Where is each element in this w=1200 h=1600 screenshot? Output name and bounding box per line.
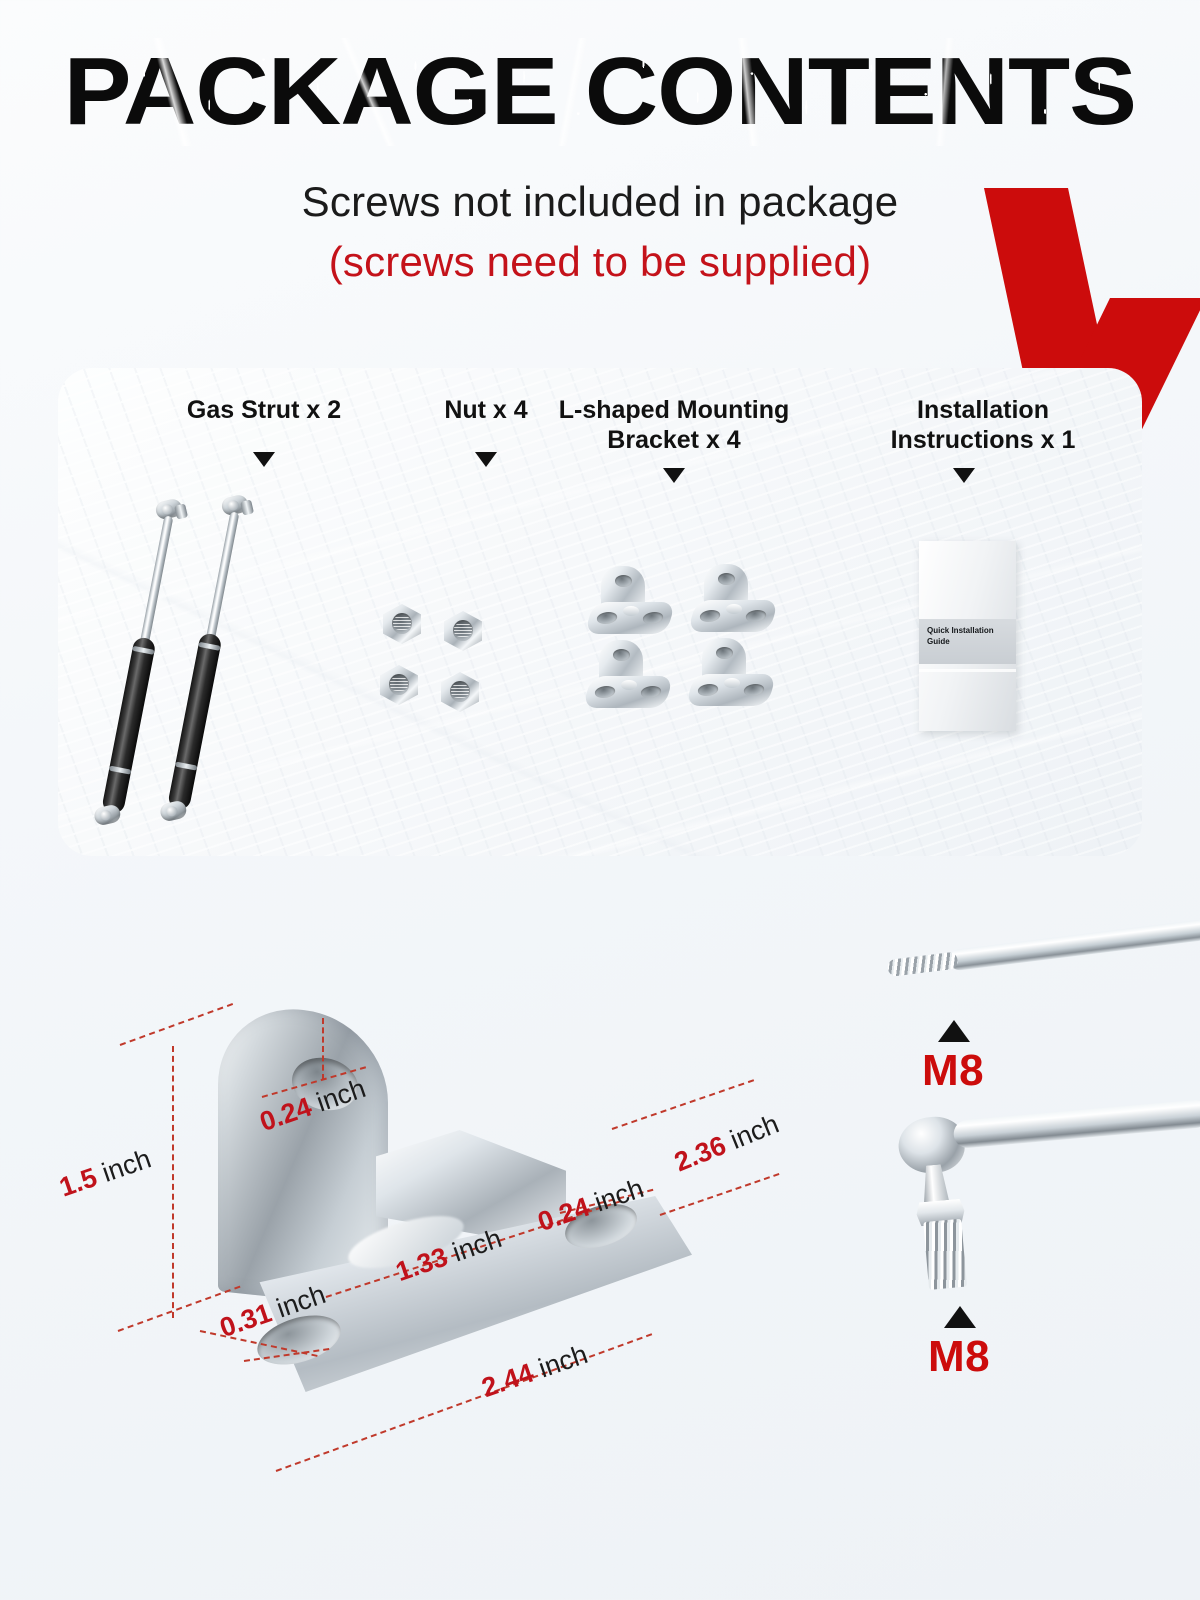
- rod-shaft: [948, 919, 1200, 972]
- hex-nut-1: [383, 604, 421, 644]
- item-label-instructions-line2: Instructions x 1: [848, 426, 1118, 456]
- thread-callout-bottom: M8: [928, 1332, 990, 1382]
- mounting-bracket-3: [587, 640, 669, 714]
- item-label-instructions-line1: Installation: [848, 396, 1118, 426]
- bracket-rib: [623, 606, 639, 616]
- dimension-height-value: 1.5: [56, 1162, 101, 1203]
- rod-thread-m8: [887, 952, 959, 977]
- subtitle-primary: Screws not included in package: [0, 178, 1200, 226]
- ball-stud-thread-m8: [923, 1219, 967, 1290]
- subtitle-secondary: (screws need to be supplied): [0, 238, 1200, 286]
- pointer-triangle-m8-top: [938, 1020, 970, 1042]
- dimension-height-unit: inch: [98, 1143, 155, 1187]
- hex-nut-3: [380, 665, 418, 705]
- nut-threads: [393, 616, 411, 630]
- page-title-text: PACKAGE CONTENTS: [64, 38, 1136, 145]
- bracket-detail-photo: [196, 1000, 696, 1470]
- booklet-title: Quick Installation Guide: [927, 626, 1009, 648]
- installation-guide-booklet: Quick Installation Guide: [919, 541, 1016, 731]
- nut-threads: [390, 677, 408, 691]
- pointer-triangle-nut: [475, 452, 497, 467]
- infographic-stage: PACKAGE CONTENTS Screws not included in …: [0, 0, 1200, 1600]
- bracket-upright-hole: [613, 649, 630, 661]
- mounting-bracket-2: [692, 564, 774, 638]
- nut-threads: [451, 684, 469, 698]
- strut-stud-top: [174, 503, 188, 519]
- dimension-height: 1.5 inch: [56, 1143, 156, 1203]
- thread-detail-photos: M8 M8: [860, 920, 1200, 1480]
- booklet-fold: [919, 669, 1016, 672]
- pointer-triangle-m8-bottom: [944, 1306, 976, 1328]
- item-label-bracket-line2: Bracket x 4: [526, 426, 822, 456]
- mounting-bracket-4: [690, 638, 772, 712]
- pointer-triangle-instructions: [953, 468, 975, 483]
- bracket-upright-hole: [615, 575, 632, 587]
- bracket-upright-hole: [718, 573, 735, 585]
- hex-nut-4: [441, 672, 479, 712]
- strut-stud-top: [240, 499, 254, 515]
- thread-callout-top: M8: [922, 1046, 984, 1096]
- dimension-depth-unit: inch: [726, 1109, 783, 1155]
- hex-nut-2: [444, 611, 482, 651]
- rod-shaft: [953, 1099, 1200, 1149]
- booklet-title-line1: Quick Installation: [927, 626, 1009, 637]
- mounting-bracket-1: [589, 566, 671, 640]
- pointer-triangle-bracket: [663, 468, 685, 483]
- page-title: PACKAGE CONTENTS: [64, 44, 1136, 140]
- booklet-title-line2: Guide: [927, 637, 1009, 648]
- item-label-bracket-line1: L-shaped Mounting: [526, 396, 822, 426]
- nut-threads: [454, 623, 472, 637]
- bracket-rib: [621, 680, 637, 690]
- dim-line-tophole-vertical: [322, 1018, 324, 1080]
- bracket-upright-hole: [716, 647, 733, 659]
- bracket-rib: [724, 678, 740, 688]
- strut-ball-end-assembly: [896, 1093, 1200, 1160]
- title-block: PACKAGE CONTENTS: [0, 44, 1200, 140]
- pointer-triangle-gas-strut: [253, 452, 275, 467]
- item-label-gas-strut: Gas Strut x 2: [124, 396, 404, 426]
- dim-line-height-vertical: [172, 1046, 174, 1318]
- strut-rod-threaded-end: [886, 917, 1200, 982]
- bracket-rib: [726, 604, 742, 614]
